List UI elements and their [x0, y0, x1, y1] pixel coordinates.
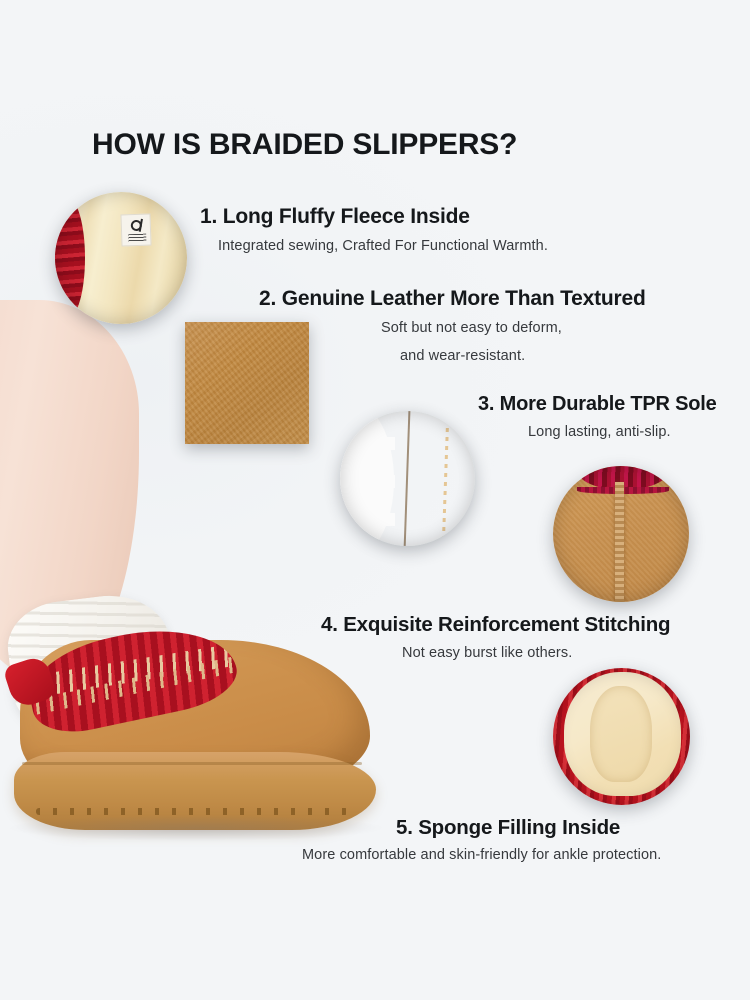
sole-notch: [380, 475, 395, 488]
sponge-insole-pad: [564, 672, 681, 796]
feature-image-tpr-sole: [340, 411, 475, 546]
feature-3-subtitle: Long lasting, anti-slip.: [528, 424, 671, 440]
floor-shadow: [10, 815, 382, 841]
feature-3-title: 3. More Durable TPR Sole: [478, 393, 717, 416]
reinforcement-seam: [615, 482, 624, 602]
sole-seam-line: [403, 411, 410, 546]
sole-background-white: [340, 411, 394, 546]
feature-2-title: 2. Genuine Leather More Than Textured: [259, 287, 646, 311]
infographic-page: HOW IS BRAIDED SLIPPERS? 1. Long Fluffy …: [0, 0, 750, 1000]
sole-notch: [380, 437, 395, 450]
brand-logo-icon: [131, 220, 142, 231]
feature-1-subtitle: Integrated sewing, Crafted For Functiona…: [218, 238, 548, 254]
sole-notch: [380, 513, 395, 526]
red-braid-trim: [577, 466, 669, 490]
brand-label-tag: [120, 213, 151, 246]
feature-5-title: 5. Sponge Filling Inside: [396, 816, 620, 840]
red-braid-edge: [55, 198, 85, 318]
sole-stitch-line: [442, 419, 449, 543]
label-text-lines: [128, 234, 146, 243]
feature-2-subtitle-line-2: and wear-resistant.: [400, 348, 525, 364]
feature-1-title: 1. Long Fluffy Fleece Inside: [200, 205, 470, 229]
feature-image-sponge-filling: [553, 668, 690, 805]
feature-image-reinforcement-stitching: [553, 466, 689, 602]
feature-image-fleece-lining: [55, 192, 187, 324]
feature-5-subtitle: More comfortable and skin-friendly for a…: [302, 847, 661, 863]
sole-welt-line: [22, 762, 362, 765]
page-title: HOW IS BRAIDED SLIPPERS?: [92, 128, 517, 162]
feature-4-subtitle: Not easy burst like others.: [402, 645, 572, 661]
feature-image-leather-swatch: [185, 322, 309, 444]
feature-4-title: 4. Exquisite Reinforcement Stitching: [321, 613, 670, 637]
feature-2-subtitle-line-1: Soft but not easy to deform,: [381, 320, 562, 336]
sole-tread-notches: [36, 808, 348, 815]
